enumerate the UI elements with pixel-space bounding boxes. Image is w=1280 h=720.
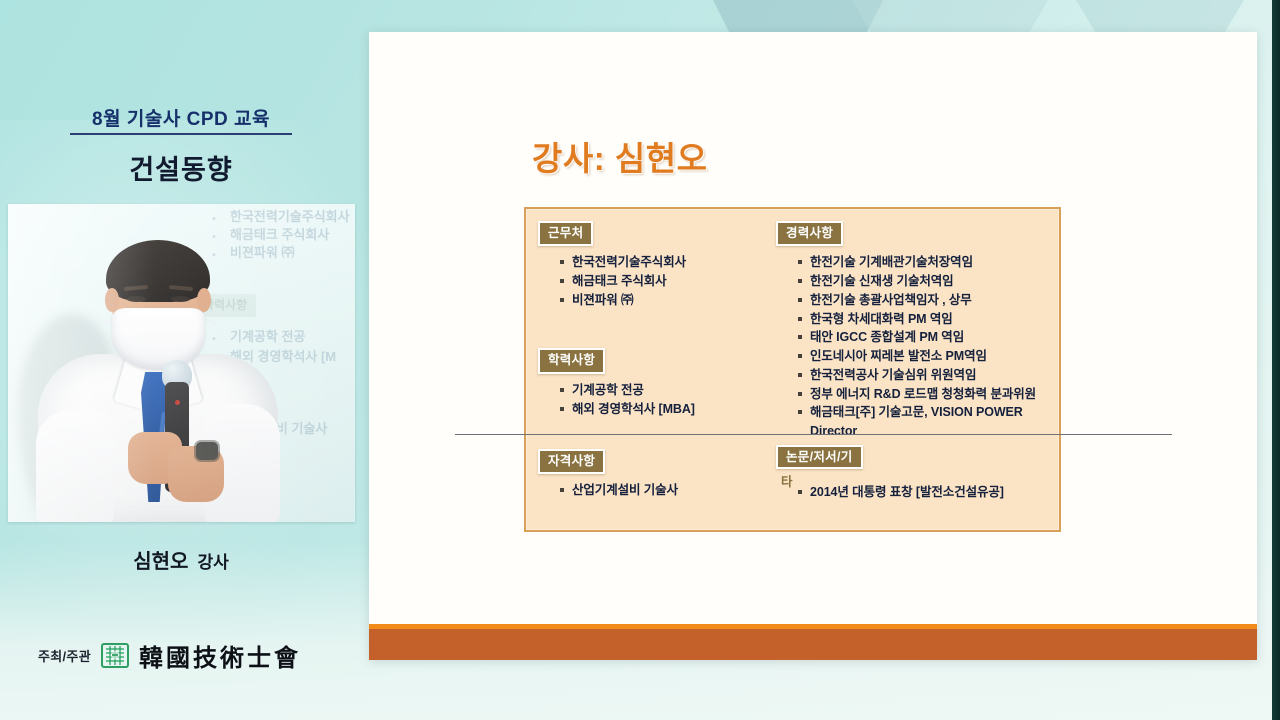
spacer xyxy=(538,310,766,348)
organization-name: 韓國技術士會 xyxy=(139,638,301,673)
list-item: 해외 경영학석사 [MBA] xyxy=(560,400,766,419)
right-edge-strip xyxy=(1272,0,1280,720)
section-label-certification: 자격사항 xyxy=(538,449,605,474)
host-label: 주최/주관 xyxy=(38,646,91,665)
list-item: 한국전력공사 기술심위 위원역임 xyxy=(798,366,1054,385)
speaker-caption: 심현오강사 xyxy=(0,545,362,574)
list-item: 해금태크 주식회사 xyxy=(560,272,766,291)
workplace-list: 한국전력기술주식회사 해금태크 주식회사 비젼파워 ㈜ xyxy=(560,253,766,310)
section-certification: 자격사항 산업기계설비 기술사 xyxy=(538,449,766,500)
list-item: 산업기계설비 기술사 xyxy=(560,481,766,500)
list-item: 인도네시아 찌레본 발전소 PM역임 xyxy=(798,347,1054,366)
list-item: 한국전력기술주식회사 xyxy=(560,253,766,272)
speaker-name: 심현오 xyxy=(133,551,188,573)
list-item: 2014년 대통령 표창 [발전소건설유공] xyxy=(798,483,1054,502)
profile-column-right: 경력사항 한전기술 기계배관기술처장역임 한전기술 신재생 기술처역임 한전기술… xyxy=(776,221,1054,502)
list-item: 태안 IGCC 종합설계 PM 역임 xyxy=(798,328,1054,347)
course-tag: 8월 기술사 CPD 교육 xyxy=(0,104,362,135)
section-label-publications: 논문/저서/기 xyxy=(776,445,863,469)
presentation-slide: 강사: 심현오 근무처 한국전력기술주식회사 해금태크 주식회사 비젼파워 ㈜ … xyxy=(369,32,1257,660)
list-item: 정부 에너지 R&D 로드맵 청청화력 분과위원 xyxy=(798,385,1054,404)
photo-light-wash xyxy=(8,204,355,522)
profile-box: 근무처 한국전력기술주식회사 해금태크 주식회사 비젼파워 ㈜ 학력사항 기계공… xyxy=(524,207,1061,532)
list-item: 한전기술 총괄사업책임자 , 상무 xyxy=(798,291,1054,310)
organiser-footer: 주최/주관 韓國技術士會 xyxy=(38,638,301,673)
slide-title: 강사: 심현오 xyxy=(532,132,707,180)
broadcast-stage: 8월 기술사 CPD 교육 건설동향 ▪ 한국전력기술주식회사 ▪ 해금태크 주… xyxy=(0,0,1280,720)
page-title: 건설동향 xyxy=(0,148,362,187)
section-career: 경력사항 한전기술 기계배관기술처장역임 한전기술 신재생 기술처역임 한전기술… xyxy=(776,221,1054,441)
section-label-career: 경력사항 xyxy=(776,221,843,246)
list-item: 한국형 차세대화력 PM 역임 xyxy=(798,310,1054,329)
list-item: 비젼파워 ㈜ xyxy=(560,291,766,310)
course-tag-label: 8월 기술사 CPD 교육 xyxy=(92,109,270,130)
profile-column-left: 근무처 한국전력기술주식회사 해금태크 주식회사 비젼파워 ㈜ 학력사항 기계공… xyxy=(538,221,766,500)
certification-list: 산업기계설비 기술사 xyxy=(560,481,766,500)
section-education: 학력사항 기계공학 전공 해외 경영학석사 [MBA] xyxy=(538,348,766,418)
education-list: 기계공학 전공 해외 경영학석사 [MBA] xyxy=(560,381,766,419)
association-seal-icon xyxy=(100,643,130,669)
speaker-video-tile: ▪ 한국전력기술주식회사 ▪ 해금태크 주식회사 ▪ 비젼파워 ㈜ 학력사항 ▪… xyxy=(8,204,355,522)
list-item: 한전기술 신재생 기술처역임 xyxy=(798,272,1054,291)
section-label-workplace: 근무처 xyxy=(538,221,593,246)
slide-footer-bar xyxy=(369,624,1257,660)
speaker-role: 강사 xyxy=(197,553,228,572)
list-item: 한전기술 기계배관기술처장역임 xyxy=(798,253,1054,272)
course-tag-underline xyxy=(70,133,292,135)
left-info-panel: 8월 기술사 CPD 교육 건설동향 ▪ 한국전력기술주식회사 ▪ 해금태크 주… xyxy=(0,0,362,720)
section-label-education: 학력사항 xyxy=(538,348,605,373)
list-item: 기계공학 전공 xyxy=(560,381,766,400)
publications-list: 2014년 대통령 표창 [발전소건설유공] xyxy=(798,483,1054,502)
list-item: 해금태크[주] 기술고문, VISION POWER Director xyxy=(798,403,1054,441)
career-list: 한전기술 기계배관기술처장역임 한전기술 신재생 기술처역임 한전기술 총괄사업… xyxy=(798,253,1054,441)
section-publications: 논문/저서/기 타 2014년 대통령 표창 [발전소건설유공] xyxy=(776,445,1054,502)
section-workplace: 근무처 한국전력기술주식회사 해금태크 주식회사 비젼파워 ㈜ xyxy=(538,221,766,310)
section-label-publications-overflow: 타 xyxy=(781,471,793,490)
screen-artifact-line xyxy=(455,434,1172,435)
